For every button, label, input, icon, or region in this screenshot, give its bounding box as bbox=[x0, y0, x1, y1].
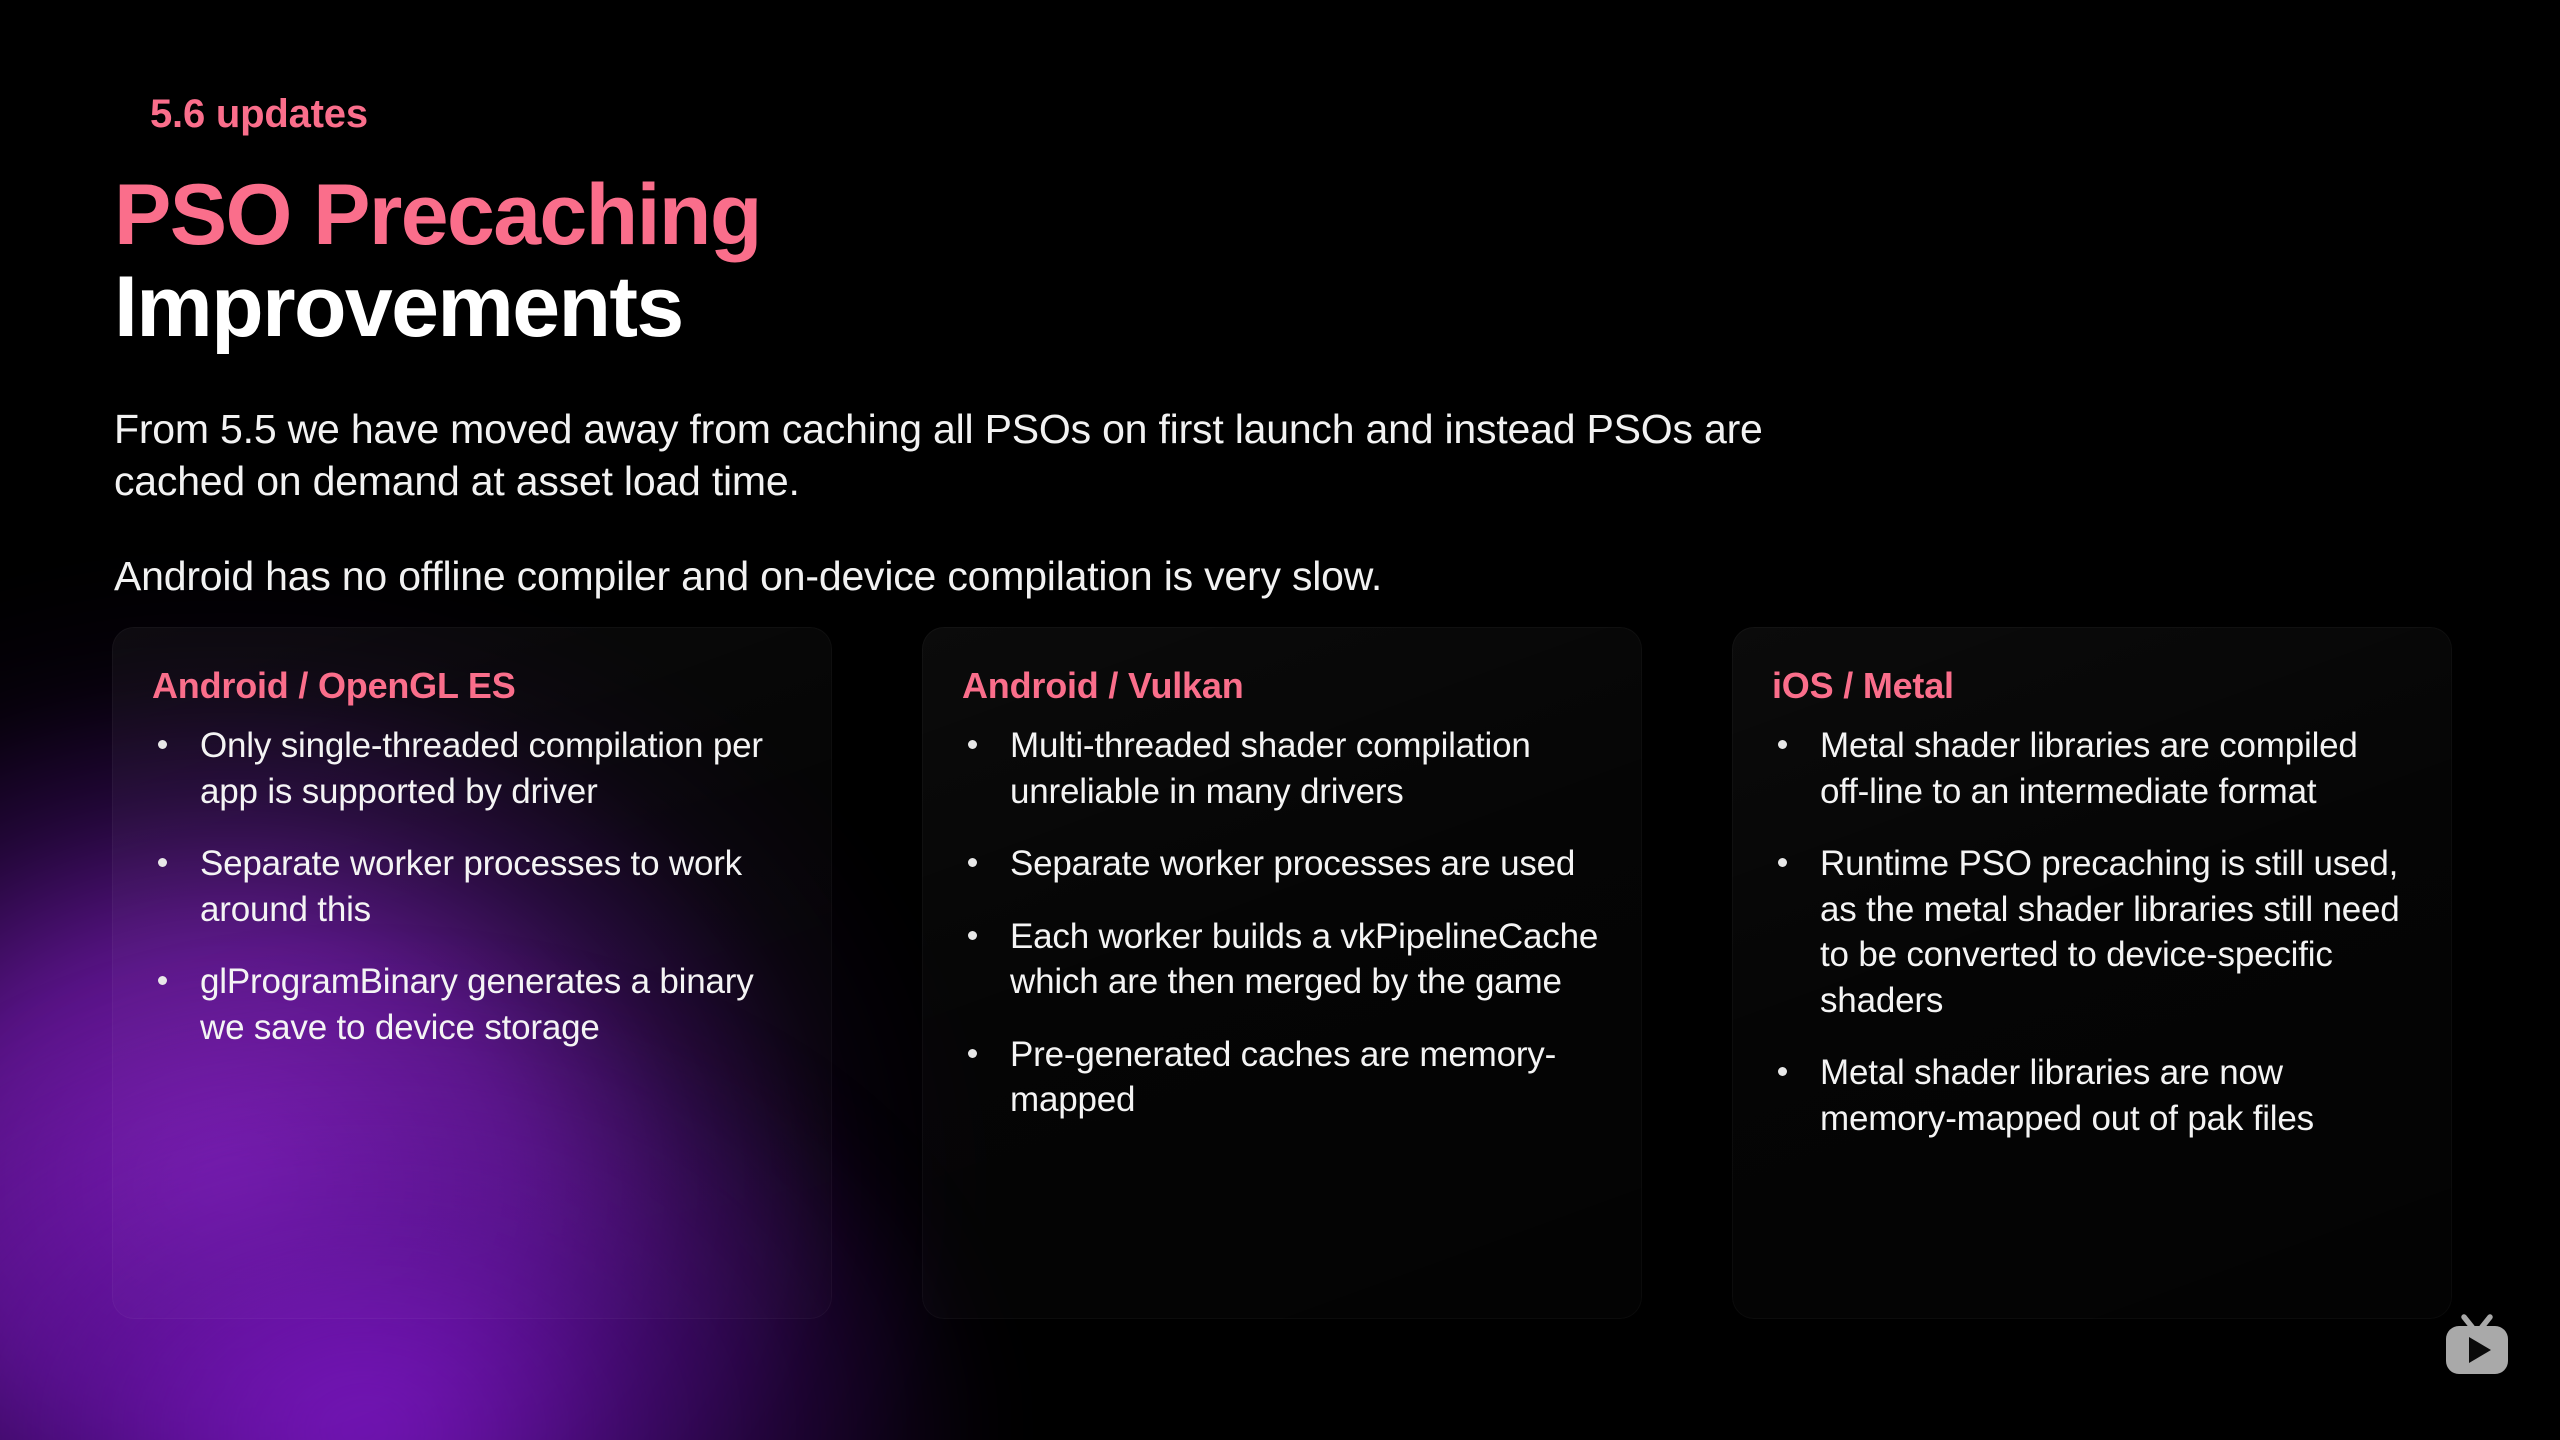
card-bullet-list: Multi-threaded shader compilation unreli… bbox=[962, 723, 1602, 1123]
bullet-dot-icon bbox=[968, 740, 977, 749]
intro-paragraph-2: Android has no offline compiler and on-d… bbox=[114, 551, 1904, 603]
tv-play-icon bbox=[2440, 1314, 2514, 1378]
list-item: Only single-threaded compilation per app… bbox=[152, 723, 792, 814]
bullet-dot-icon bbox=[968, 931, 977, 940]
list-item-label: Runtime PSO precaching is still used, as… bbox=[1820, 844, 2400, 1020]
bullet-dot-icon bbox=[158, 976, 167, 985]
list-item: Runtime PSO precaching is still used, as… bbox=[1772, 841, 2412, 1023]
list-item-label: glProgramBinary generates a binary we sa… bbox=[200, 962, 754, 1047]
card-bullet-list: Only single-threaded compilation per app… bbox=[152, 723, 792, 1050]
list-item-label: Only single-threaded compilation per app… bbox=[200, 726, 763, 811]
page-title: PSO Precaching Improvements bbox=[114, 172, 761, 350]
list-item-label: Metal shader libraries are now memory-ma… bbox=[1820, 1053, 2314, 1138]
list-item-label: Multi-threaded shader compilation unreli… bbox=[1010, 726, 1531, 811]
list-item: Multi-threaded shader compilation unreli… bbox=[962, 723, 1602, 814]
list-item: Metal shader libraries are now memory-ma… bbox=[1772, 1050, 2412, 1141]
list-item: Metal shader libraries are compiled off-… bbox=[1772, 723, 2412, 814]
bullet-dot-icon bbox=[1778, 858, 1787, 867]
list-item-label: Separate worker processes to work around… bbox=[200, 844, 742, 929]
list-item-label: Metal shader libraries are compiled off-… bbox=[1820, 726, 2358, 811]
bullet-dot-icon bbox=[1778, 740, 1787, 749]
platform-card-row: Android / OpenGL ES Only single-threaded… bbox=[112, 627, 2452, 1319]
intro-paragraphs: From 5.5 we have moved away from caching… bbox=[114, 404, 1964, 603]
list-item: Pre-generated caches are memory-mapped bbox=[962, 1032, 1602, 1123]
list-item-label: Pre-generated caches are memory-mapped bbox=[1010, 1035, 1556, 1120]
card-ios-metal: iOS / Metal Metal shader libraries are c… bbox=[1732, 627, 2452, 1319]
list-item-label: Separate worker processes are used bbox=[1010, 844, 1575, 883]
card-android-vulkan: Android / Vulkan Multi-threaded shader c… bbox=[922, 627, 1642, 1319]
page-title-line-2: Improvements bbox=[114, 264, 761, 350]
card-bullet-list: Metal shader libraries are compiled off-… bbox=[1772, 723, 2412, 1141]
slide-root: 5.6 updates PSO Precaching Improvements … bbox=[0, 0, 2560, 1440]
card-title: iOS / Metal bbox=[1772, 665, 2412, 707]
intro-paragraph-1: From 5.5 we have moved away from caching… bbox=[114, 404, 1904, 507]
slide-eyebrow: 5.6 updates bbox=[150, 92, 368, 137]
card-title: Android / Vulkan bbox=[962, 665, 1602, 707]
card-title: Android / OpenGL ES bbox=[152, 665, 792, 707]
card-android-opengl-es: Android / OpenGL ES Only single-threaded… bbox=[112, 627, 832, 1319]
list-item-label: Each worker builds a vkPipelineCache whi… bbox=[1010, 917, 1598, 1002]
bullet-dot-icon bbox=[968, 858, 977, 867]
page-title-line-1: PSO Precaching bbox=[114, 172, 761, 258]
bullet-dot-icon bbox=[158, 858, 167, 867]
list-item: Separate worker processes are used bbox=[962, 841, 1602, 887]
bullet-dot-icon bbox=[158, 740, 167, 749]
list-item: Separate worker processes to work around… bbox=[152, 841, 792, 932]
bullet-dot-icon bbox=[968, 1049, 977, 1058]
list-item: glProgramBinary generates a binary we sa… bbox=[152, 959, 792, 1050]
list-item: Each worker builds a vkPipelineCache whi… bbox=[962, 914, 1602, 1005]
bullet-dot-icon bbox=[1778, 1067, 1787, 1076]
